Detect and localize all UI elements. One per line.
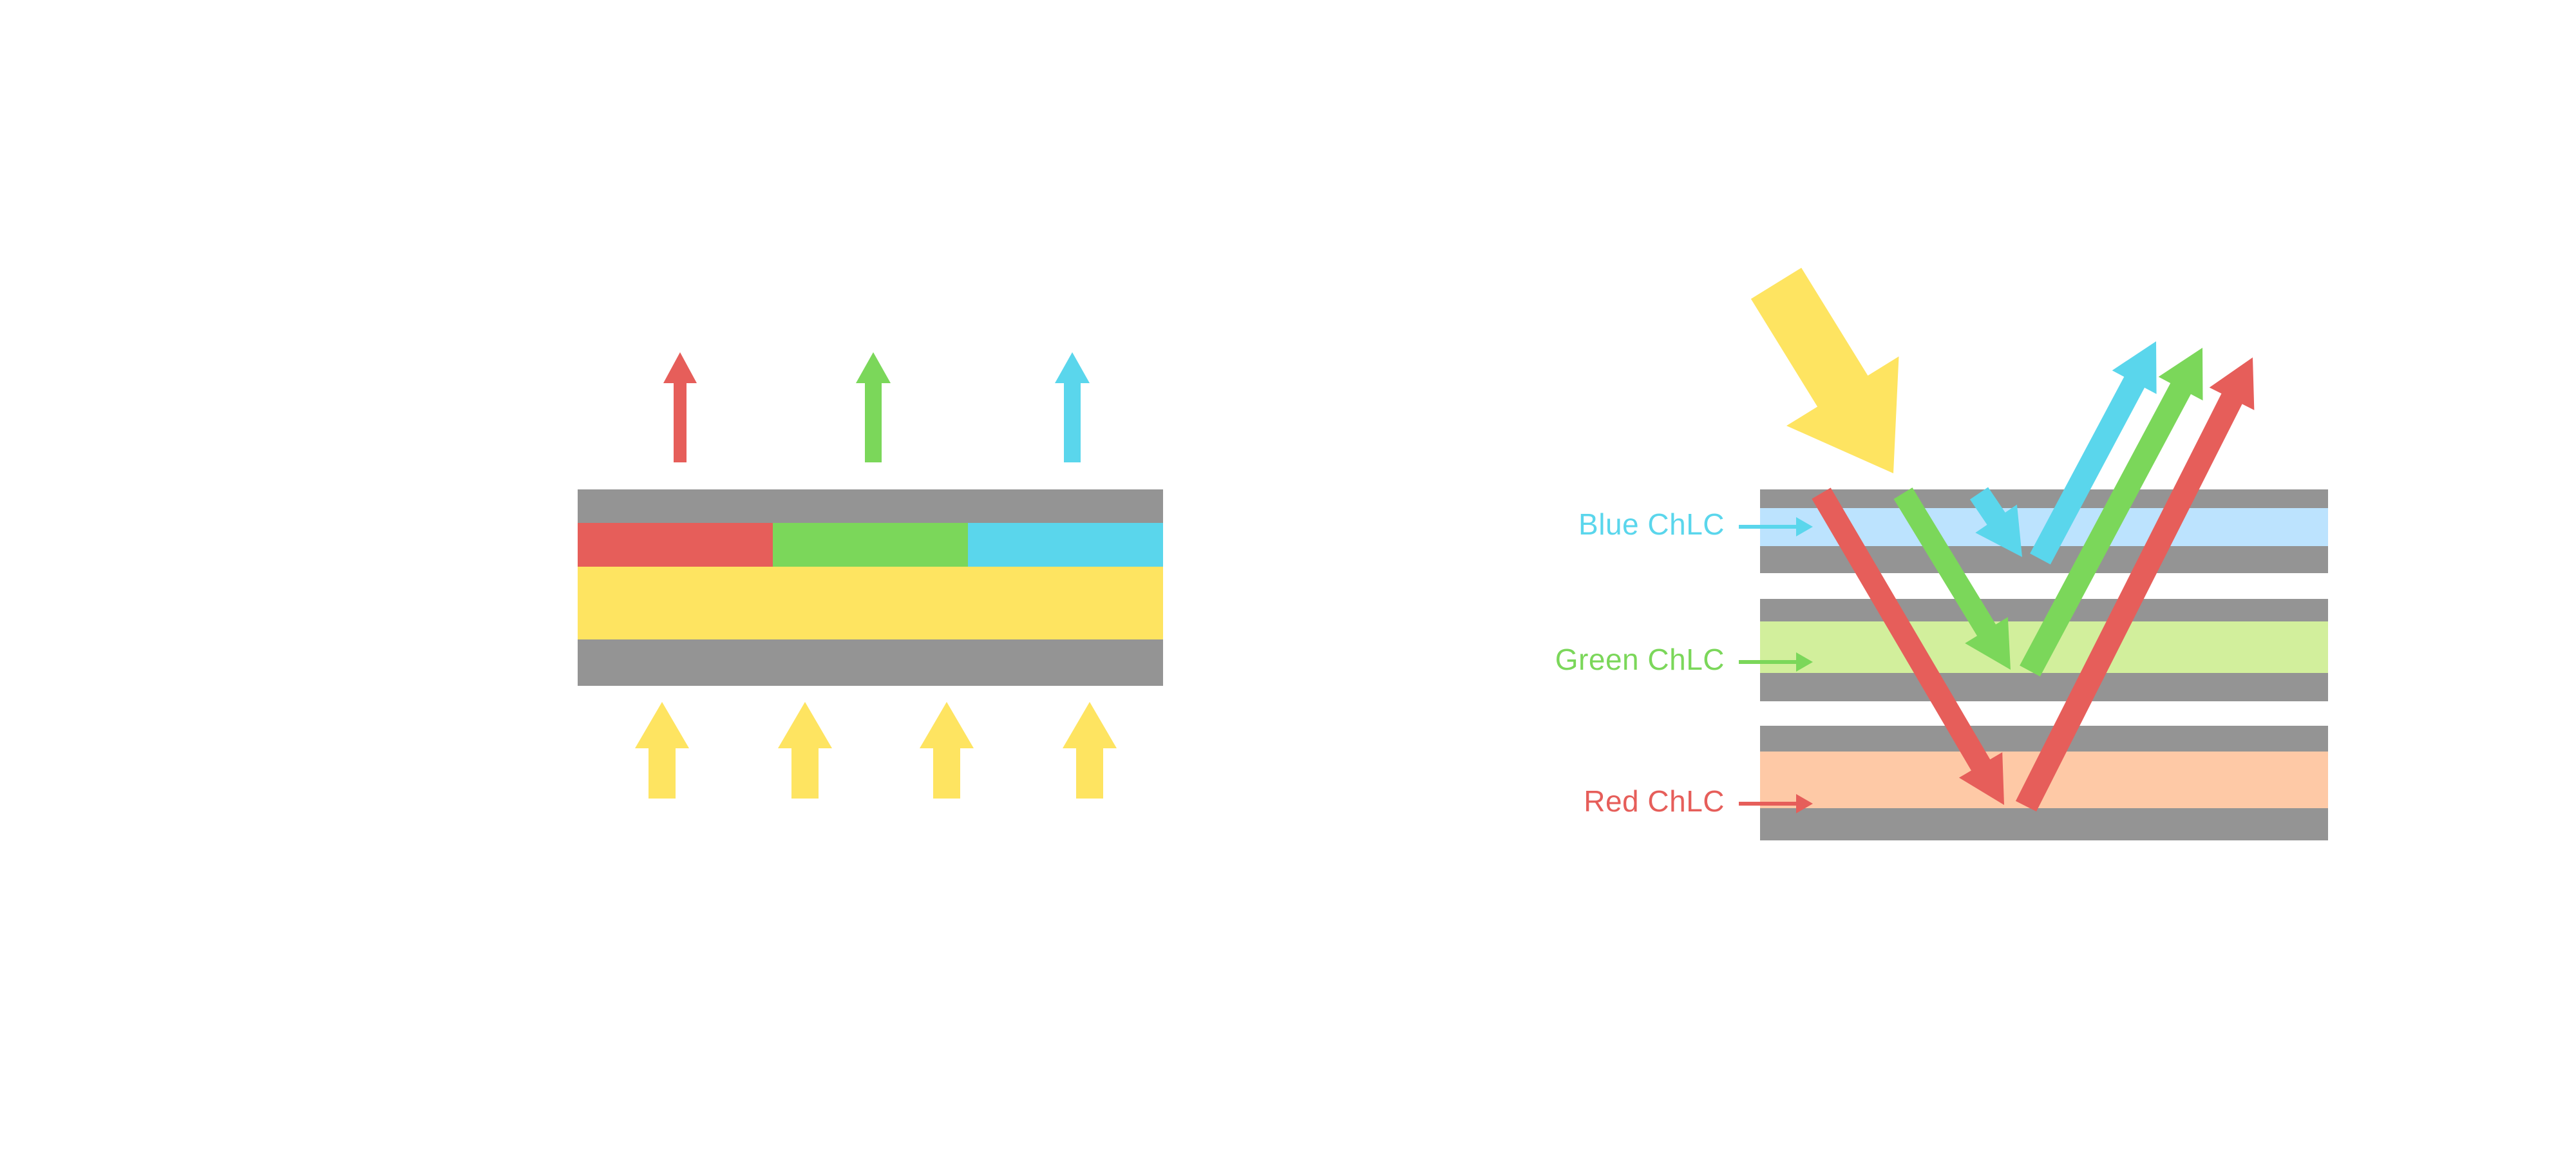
left-layer-red-filter <box>578 523 773 567</box>
left-layer-cyan-filter <box>968 523 1163 567</box>
band-red-bottom-electrode <box>1760 808 2328 840</box>
diagram-svg: Blue ChLCGreen ChLCRed ChLC <box>0 0 2576 1154</box>
diagram-canvas: Blue ChLCGreen ChLCRed ChLC <box>0 0 2576 1154</box>
band-green-top-electrode <box>1760 599 2328 621</box>
transmissive-color-filter-stack <box>578 352 1163 799</box>
incident-white-light-arrow <box>1751 268 1899 473</box>
backlight-2-arrow <box>778 702 832 799</box>
band-green-bottom-electrode <box>1760 673 2328 701</box>
band-blue-top-electrode <box>1760 489 2328 508</box>
left-layer-backlight-layer <box>578 567 1163 639</box>
backlight-1-arrow <box>635 702 689 799</box>
backlight-4-arrow <box>1063 702 1117 799</box>
emitted-red-arrow <box>663 352 697 462</box>
left-layer-green-filter <box>773 523 968 567</box>
emitted-green-arrow <box>856 352 891 462</box>
emitted-cyan-arrow <box>1055 352 1090 462</box>
left-layer-top-electrode <box>578 489 1163 523</box>
chlc-reflective-stack <box>1751 268 2328 840</box>
left-layer-bottom-electrode <box>578 639 1163 686</box>
label-blue-chlc: Blue ChLC <box>1578 507 1725 541</box>
label-red-chlc: Red ChLC <box>1584 784 1725 818</box>
backlight-3-arrow <box>920 702 974 799</box>
label-green-chlc: Green ChLC <box>1555 643 1725 676</box>
